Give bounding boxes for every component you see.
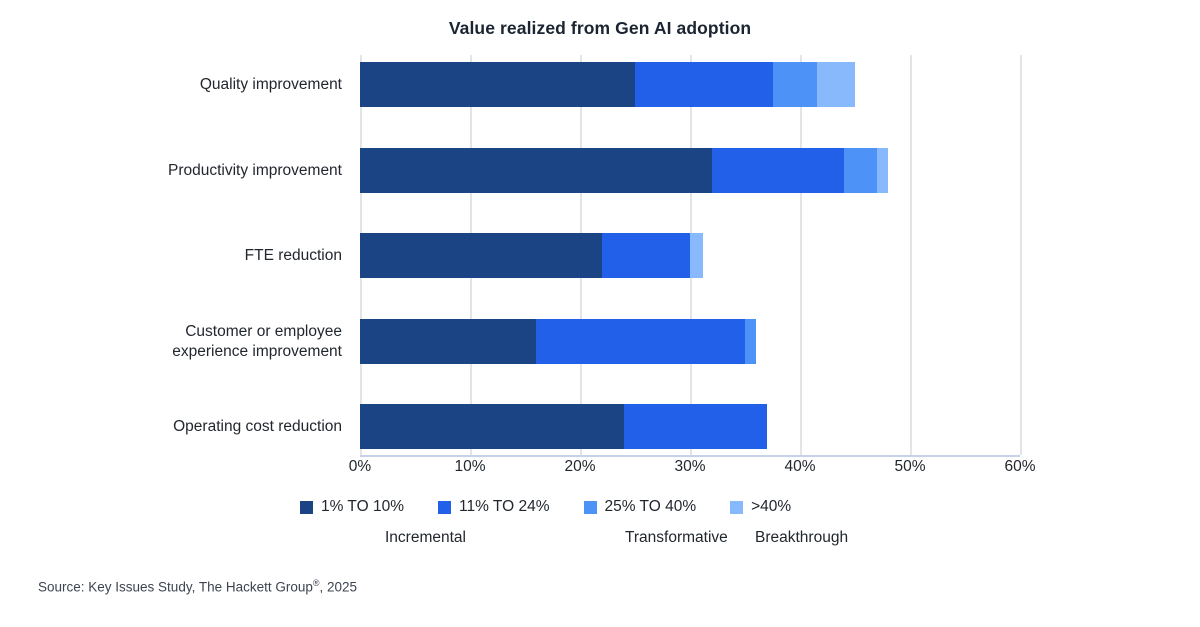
x-tick-label: 10% [454,458,485,476]
registered-mark-icon: ® [313,578,320,588]
legend-item-label: 25% TO 40% [605,498,697,516]
bar-row: Operating cost reduction [360,404,1020,449]
gridline-60 [1020,55,1022,455]
legend-item[interactable]: 11% TO 24% [438,498,549,516]
bar-segment[interactable] [635,62,773,107]
bar-segment[interactable] [360,319,536,364]
category-label: Operating cost reduction [0,404,354,449]
bar-row: Productivity improvement [360,148,1020,193]
x-tick-label: 30% [674,458,705,476]
legend-swatch-icon [730,501,743,514]
category-label-text: Operating cost reduction [173,417,354,437]
x-tick-label: 50% [894,458,925,476]
x-tick-label: 20% [564,458,595,476]
bar-segment[interactable] [536,319,745,364]
legend-group-label: Breakthrough [755,529,848,547]
bar-row: Customer or employee experience improvem… [360,319,1020,364]
bar-segment[interactable] [773,62,817,107]
bar-row: FTE reduction [360,233,1020,278]
legend-swatch-icon [438,501,451,514]
bar-segment[interactable] [690,233,703,278]
bar-segment[interactable] [712,148,844,193]
bar-segment[interactable] [360,62,635,107]
bar-segment[interactable] [844,148,877,193]
bar-segment[interactable] [360,233,602,278]
legend-item[interactable]: 25% TO 40% [584,498,697,516]
bar-segment[interactable] [817,62,856,107]
legend-item-label: 11% TO 24% [459,498,549,516]
legend-swatch-icon [300,501,313,514]
category-label-text: Quality improvement [200,75,354,95]
category-label: Productivity improvement [0,148,354,193]
category-label: Quality improvement [0,62,354,107]
x-axis-line [360,455,1020,457]
legend-item[interactable]: 1% TO 10% [300,498,404,516]
x-tick-label: 60% [1004,458,1035,476]
x-tick-label: 40% [784,458,815,476]
bar-segment[interactable] [745,319,756,364]
bar-segment[interactable] [602,233,690,278]
bar-row: Quality improvement [360,62,1020,107]
bar-segment[interactable] [624,404,767,449]
legend-group-label: Transformative [625,529,728,547]
x-tick-label: 0% [349,458,371,476]
source-note: Source: Key Issues Study, The Hackett Gr… [38,578,357,595]
legend-item[interactable]: >40% [730,498,791,516]
legend-items: 1% TO 10%11% TO 24%25% TO 40%>40% [300,498,825,516]
legend-item-label: >40% [751,498,791,516]
chart-container: Value realized from Gen AI adoption Qual… [0,0,1200,627]
legend-swatch-icon [584,501,597,514]
category-label-text: Customer or employee experience improvem… [172,322,354,362]
legend-group-labels: IncrementalTransformativeBreakthrough [0,529,1200,551]
plot-area: Quality improvementProductivity improvem… [360,55,1020,455]
category-label: Customer or employee experience improvem… [0,319,354,364]
bar-segment[interactable] [360,148,712,193]
chart-title: Value realized from Gen AI adoption [0,18,1200,39]
bar-segment[interactable] [360,404,624,449]
bar-rows: Quality improvementProductivity improvem… [360,55,1020,455]
category-label: FTE reduction [0,233,354,278]
legend-group-label: Incremental [385,529,466,547]
category-label-text: FTE reduction [245,246,354,266]
bar-segment[interactable] [877,148,888,193]
legend-item-label: 1% TO 10% [321,498,404,516]
category-label-text: Productivity improvement [168,161,354,181]
